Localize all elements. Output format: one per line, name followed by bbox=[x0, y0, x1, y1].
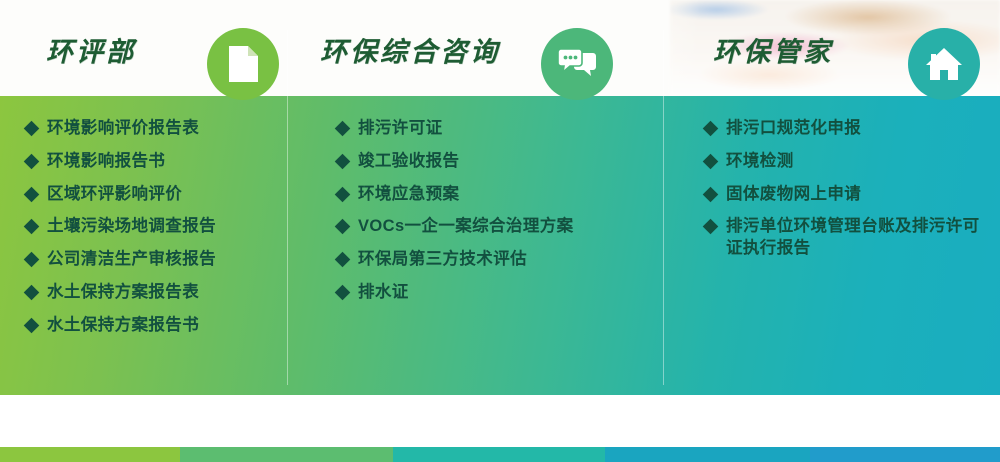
list-item[interactable]: 公司清洁生产审核报告 bbox=[26, 249, 276, 271]
list-item-label: 水土保持方案报告书 bbox=[47, 315, 276, 337]
list-item[interactable]: 水土保持方案报告表 bbox=[26, 282, 276, 304]
list-item-label: 排污许可证 bbox=[358, 118, 657, 140]
poster-root: 环评部 环境影响评价报告表 环境影响报告书 bbox=[0, 0, 1000, 462]
diamond-bullet-icon bbox=[24, 121, 40, 137]
diamond-bullet-icon bbox=[24, 317, 40, 333]
diamond-bullet-icon bbox=[703, 153, 719, 169]
list-item[interactable]: 环境检测 bbox=[705, 151, 995, 173]
bottom-color-segment bbox=[605, 447, 810, 462]
list-item-label: 环境影响评价报告表 bbox=[47, 118, 276, 140]
diamond-bullet-icon bbox=[335, 285, 351, 301]
bottom-color-segment bbox=[810, 447, 1000, 462]
list-item[interactable]: 土壤污染场地调查报告 bbox=[26, 216, 276, 238]
diamond-bullet-icon bbox=[703, 219, 719, 235]
list-item[interactable]: 排污许可证 bbox=[337, 118, 657, 140]
white-gap bbox=[0, 395, 1000, 447]
column-title: 环保综合咨询 bbox=[320, 30, 500, 69]
diamond-bullet-icon bbox=[24, 153, 40, 169]
bottom-color-segment bbox=[180, 447, 393, 462]
list-item-label: 竣工验收报告 bbox=[358, 151, 657, 173]
list-item-label: 固体废物网上申请 bbox=[726, 184, 995, 206]
bottom-color-segment bbox=[0, 447, 180, 462]
diamond-bullet-icon bbox=[703, 121, 719, 137]
list-item[interactable]: VOCs一企一案综合治理方案 bbox=[337, 216, 657, 238]
diamond-bullet-icon bbox=[24, 285, 40, 301]
diamond-bullet-icon bbox=[335, 252, 351, 268]
column-huanpingbu: 环评部 环境影响评价报告表 环境影响报告书 bbox=[0, 0, 287, 395]
house-icon-badge bbox=[908, 28, 980, 100]
diamond-bullet-icon bbox=[335, 186, 351, 202]
service-list-huanbao-guanjia: 排污口规范化申报 环境检测 固体废物网上申请 排污单位环境管理台账及排污许可证执… bbox=[705, 118, 995, 271]
column-title: 环评部 bbox=[46, 30, 136, 69]
document-icon bbox=[226, 44, 260, 84]
service-list-huanpingbu: 环境影响评价报告表 环境影响报告书 区域环评影响评价 土壤污染场地调查报告 公司… bbox=[26, 118, 276, 347]
diamond-bullet-icon bbox=[703, 186, 719, 202]
house-icon bbox=[924, 45, 964, 83]
diamond-bullet-icon bbox=[335, 153, 351, 169]
list-item-label: 环境应急预案 bbox=[358, 184, 657, 206]
list-item[interactable]: 竣工验收报告 bbox=[337, 151, 657, 173]
columns-container: 环评部 环境影响评价报告表 环境影响报告书 bbox=[0, 0, 1000, 395]
list-item-label: 环境影响报告书 bbox=[47, 151, 276, 173]
diamond-bullet-icon bbox=[335, 219, 351, 235]
document-icon-badge bbox=[207, 28, 279, 100]
list-item-label: 水土保持方案报告表 bbox=[47, 282, 276, 304]
list-item-label: 环保局第三方技术评估 bbox=[358, 249, 657, 271]
list-item-label: 排水证 bbox=[358, 282, 657, 304]
list-item-label: 排污口规范化申报 bbox=[726, 118, 995, 140]
list-item-label: VOCs一企一案综合治理方案 bbox=[358, 216, 657, 238]
chat-bubbles-icon-badge bbox=[541, 28, 613, 100]
list-item[interactable]: 排污单位环境管理台账及排污许可证执行报告 bbox=[705, 216, 995, 260]
list-item-label: 排污单位环境管理台账及排污许可证执行报告 bbox=[726, 216, 995, 260]
list-item[interactable]: 环境应急预案 bbox=[337, 184, 657, 206]
list-item[interactable]: 排水证 bbox=[337, 282, 657, 304]
column-huanbao-zonghe-zixun: 环保综合咨询 排污许可证 bbox=[287, 0, 663, 395]
list-item[interactable]: 区域环评影响评价 bbox=[26, 184, 276, 206]
service-list-huanbao-zonghe-zixun: 排污许可证 竣工验收报告 环境应急预案 VOCs一企一案综合治理方案 环保局第三… bbox=[337, 118, 657, 315]
column-huanbao-guanjia: 环保管家 排污口规范化申报 环境检测 bbox=[663, 0, 1000, 395]
list-item[interactable]: 排污口规范化申报 bbox=[705, 118, 995, 140]
list-item[interactable]: 环保局第三方技术评估 bbox=[337, 249, 657, 271]
list-item-label: 区域环评影响评价 bbox=[47, 184, 276, 206]
diamond-bullet-icon bbox=[335, 121, 351, 137]
list-item[interactable]: 环境影响报告书 bbox=[26, 151, 276, 173]
list-item[interactable]: 固体废物网上申请 bbox=[705, 184, 995, 206]
diamond-bullet-icon bbox=[24, 252, 40, 268]
list-item[interactable]: 水土保持方案报告书 bbox=[26, 315, 276, 337]
bottom-color-segment bbox=[393, 447, 605, 462]
list-item[interactable]: 环境影响评价报告表 bbox=[26, 118, 276, 140]
column-title: 环保管家 bbox=[713, 30, 833, 69]
list-item-label: 公司清洁生产审核报告 bbox=[47, 249, 276, 271]
diamond-bullet-icon bbox=[24, 219, 40, 235]
bottom-color-bar bbox=[0, 447, 1000, 462]
chat-bubbles-icon bbox=[557, 47, 597, 81]
list-item-label: 土壤污染场地调查报告 bbox=[47, 216, 276, 238]
list-item-label: 环境检测 bbox=[726, 151, 995, 173]
diamond-bullet-icon bbox=[24, 186, 40, 202]
